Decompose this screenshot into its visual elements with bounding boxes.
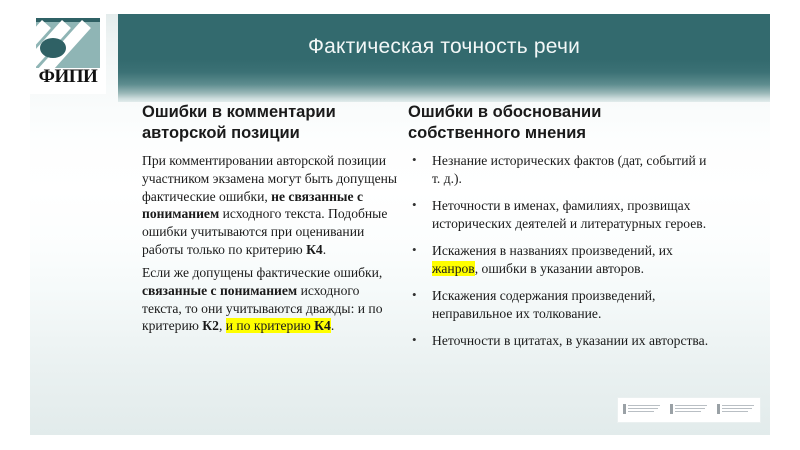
thumbnail-marker — [670, 404, 673, 414]
left-column-heading: Ошибки в комментарии авторской позиции — [142, 102, 400, 144]
list-item: Неточности в именах, фамилиях, прозвищах… — [408, 197, 713, 233]
fipi-logo: ФИПИ — [30, 14, 106, 94]
list-item: Неточности в цитатах, в указании их авто… — [408, 332, 713, 350]
thumbnail-line — [722, 405, 754, 406]
fipi-logo-mark-icon — [36, 18, 100, 68]
thumbnail-line — [722, 411, 748, 412]
list-item: Искажения в названиях произведений, их ж… — [408, 242, 713, 278]
fipi-logo-text: ФИПИ — [30, 66, 106, 88]
right-column-heading: Ошибки в обосновании собственного мнения — [408, 102, 713, 144]
emphasis-text: связанные с пониманием — [142, 283, 297, 298]
thumbnail-marker — [717, 404, 720, 414]
thumbnail-line — [722, 408, 752, 409]
highlighted-text: К4 — [314, 318, 331, 333]
thumbnail-line — [675, 411, 701, 412]
list-item: Незнание исторических фактов (дат, событ… — [408, 152, 713, 188]
paragraph: Если же допущены фактические ошибки, свя… — [142, 264, 400, 335]
highlighted-text: жанров — [432, 261, 475, 276]
emphasis-text: К4 — [314, 318, 331, 333]
thumbnail-cell — [669, 402, 709, 418]
thumbnail-line — [628, 405, 660, 406]
thumbnail-cell — [622, 402, 662, 418]
list-item: Искажения содержания произведений, непра… — [408, 287, 713, 323]
logo-ellipse-icon — [40, 38, 66, 58]
thumbnail-line — [628, 411, 654, 412]
page-title: Фактическая точность речи — [118, 35, 770, 59]
thumbnail-cell — [716, 402, 756, 418]
thumbnail-line — [675, 408, 705, 409]
logo-top-bar — [36, 18, 100, 22]
emphasis-text: не связанные с пониманием — [142, 189, 363, 222]
thumbnail-marker — [623, 404, 626, 414]
left-column: Ошибки в комментарии авторской позиции П… — [142, 102, 400, 341]
emphasis-text: К2 — [202, 318, 219, 333]
slide-header-band: Фактическая точность речи — [118, 14, 770, 102]
slide-canvas: Фактическая точность речи ФИПИ Ошибки в … — [30, 14, 770, 435]
emphasis-text: К4 — [306, 242, 323, 257]
thumbnail-line — [628, 408, 658, 409]
right-column: Ошибки в обосновании собственного мнения… — [408, 102, 713, 359]
footer-thumbnail-strip — [617, 397, 761, 423]
highlighted-text: и по критерию — [226, 318, 314, 333]
thumbnail-line — [675, 405, 707, 406]
right-column-bullet-list: Незнание исторических фактов (дат, событ… — [408, 152, 713, 349]
slide-body: Ошибки в комментарии авторской позиции П… — [30, 102, 770, 435]
left-column-paragraphs: При комментировании авторской позиции уч… — [142, 152, 400, 335]
paragraph: При комментировании авторской позиции уч… — [142, 152, 400, 258]
